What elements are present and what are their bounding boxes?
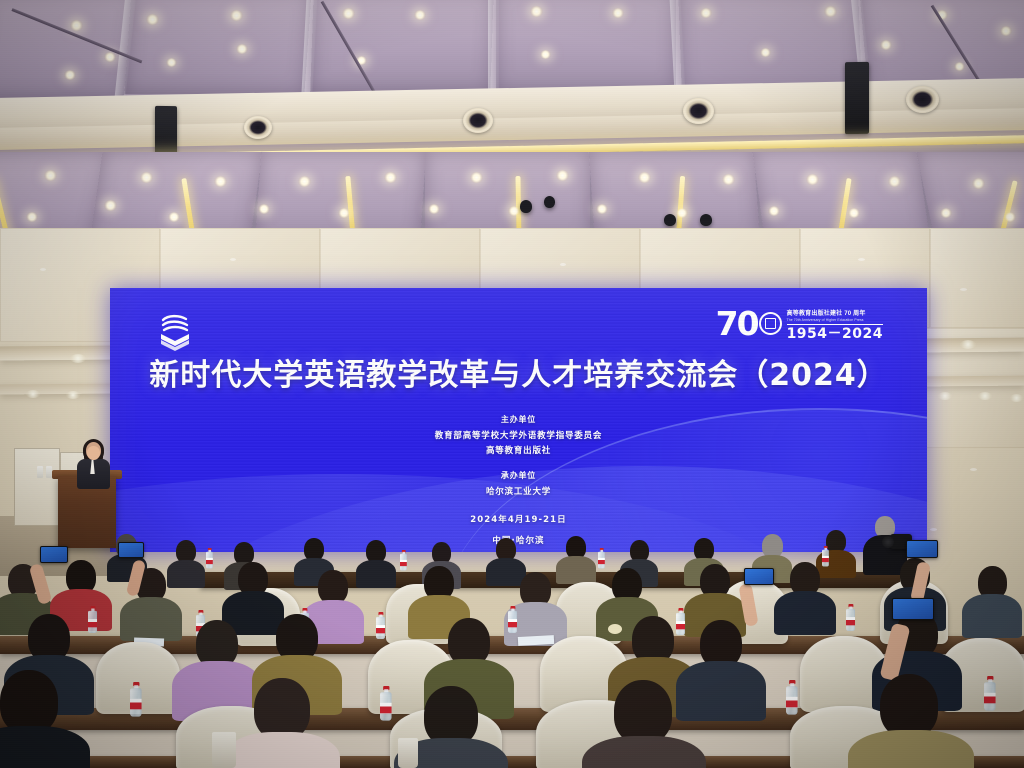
ceiling-security-camera	[664, 214, 676, 226]
wall-texture-speck	[970, 468, 977, 471]
host-name-1: 哈尔滨工业大学	[110, 485, 927, 497]
recessed-downlight	[508, 206, 520, 216]
oval-ceiling-fixture	[906, 86, 939, 113]
anniversary-cn-text: 高等教育出版社建社 70 周年	[787, 308, 883, 317]
ceiling-security-camera	[520, 200, 532, 213]
recessed-downlight	[768, 206, 780, 216]
host-label: 承办单位	[110, 470, 927, 481]
wall-texture-speck	[230, 258, 236, 261]
drink-cup	[212, 732, 236, 768]
recessed-downlight	[146, 14, 159, 25]
recessed-downlight	[760, 48, 771, 57]
recessed-downlight	[722, 174, 735, 185]
person-shoulders	[848, 730, 974, 768]
recessed-downlight	[428, 204, 440, 214]
recessed-downlight	[104, 52, 116, 62]
recessed-downlight	[26, 212, 38, 222]
recessed-downlight	[888, 176, 901, 187]
person-shoulders	[120, 597, 182, 641]
recessed-downlight	[236, 44, 248, 54]
soffit-downlight	[26, 390, 40, 398]
presenter-face	[87, 446, 100, 460]
person-head	[0, 670, 58, 734]
person-head	[614, 680, 672, 744]
recessed-downlight	[806, 174, 819, 185]
ceiling-speaker	[845, 62, 869, 134]
person-shoulders	[774, 591, 836, 635]
oval-ceiling-fixture	[683, 98, 714, 124]
recessed-downlight	[214, 176, 227, 187]
person-shoulders	[167, 560, 205, 588]
recessed-downlight	[972, 178, 985, 189]
soffit-downlight	[70, 354, 86, 363]
soffit-downlight	[978, 392, 992, 400]
person-shoulders	[224, 732, 340, 768]
recessed-downlight	[298, 176, 311, 187]
ceiling-security-camera	[544, 196, 555, 208]
recessed-downlight	[44, 170, 57, 181]
recessed-downlight	[64, 70, 76, 80]
person-shoulders	[356, 560, 396, 588]
recessed-downlight	[880, 40, 892, 50]
recessed-downlight	[384, 172, 397, 183]
recessed-downlight	[824, 6, 837, 17]
wall-stone-panel	[930, 228, 1024, 328]
person-head	[880, 674, 938, 738]
recessed-downlight	[104, 200, 117, 211]
water-glass	[37, 466, 43, 478]
conference-photo: 70 高等教育出版社建社 70 周年 The 70th Anniversary …	[0, 0, 1024, 768]
recessed-downlight	[676, 208, 688, 218]
recessed-downlight	[140, 172, 153, 183]
wall-texture-speck	[960, 288, 967, 291]
organizer-name-1: 教育部高等学校大学外语教学指导委员会	[110, 429, 927, 441]
event-title: 新时代大学英语教学改革与人才培养交流会（2024）	[110, 350, 927, 394]
person-head	[318, 570, 348, 604]
recessed-downlight	[612, 8, 624, 18]
recessed-downlight	[540, 50, 551, 59]
oval-ceiling-fixture	[244, 116, 272, 139]
anniversary-number: 70	[716, 307, 758, 340]
drink-cup	[398, 738, 418, 768]
oval-ceiling-fixture	[463, 108, 493, 133]
soffit-downlight	[938, 392, 952, 400]
smartphone-recording	[40, 546, 68, 563]
recessed-downlight	[940, 208, 952, 218]
anniversary-logo: 70 高等教育出版社建社 70 周年 The 70th Anniversary …	[716, 306, 883, 341]
wall-texture-speck	[858, 258, 865, 261]
audience-area	[0, 510, 1024, 768]
person-shoulders	[556, 556, 596, 584]
recessed-downlight	[470, 172, 483, 183]
recessed-downlight	[230, 10, 243, 21]
soffit-downlight	[960, 340, 976, 349]
recessed-downlight	[338, 208, 350, 218]
ceiling-security-camera	[700, 214, 712, 226]
person-shoulders	[676, 661, 766, 721]
recessed-downlight	[530, 6, 543, 17]
person-shoulders	[962, 594, 1022, 638]
ceiling-panel	[310, 0, 494, 92]
wall-texture-speck	[560, 263, 566, 266]
presenter-at-podium	[72, 442, 112, 488]
soffit-downlight	[1010, 394, 1023, 402]
ceiling	[0, 0, 1024, 232]
recessed-downlight	[1000, 26, 1012, 36]
ceiling-panel	[255, 152, 426, 232]
recessed-downlight	[414, 10, 426, 20]
smartphone-recording	[906, 540, 938, 558]
anniversary-en-text: The 70th Anniversary of Higher Education…	[787, 318, 883, 322]
person-head	[254, 678, 310, 740]
recessed-downlight	[638, 172, 651, 183]
person-head	[424, 686, 478, 746]
hep-seal-icon	[759, 312, 782, 335]
organizer-name-2: 高等教育出版社	[110, 444, 927, 456]
recessed-downlight	[258, 204, 270, 214]
water-glass	[46, 466, 52, 478]
organizer-label: 主办单位	[110, 414, 927, 425]
recessed-downlight	[848, 208, 860, 218]
anniversary-divider	[787, 324, 883, 325]
handout-paper	[518, 635, 554, 646]
recessed-downlight	[166, 58, 177, 67]
recessed-downlight	[556, 170, 569, 181]
ceiling-panel	[425, 152, 590, 232]
smartphone-recording	[118, 542, 144, 558]
smartphone-recording	[892, 598, 934, 620]
wall-texture-speck	[40, 268, 46, 271]
soffit-downlight	[66, 391, 80, 399]
ceiling-rib	[488, 0, 499, 94]
recessed-downlight	[954, 62, 965, 71]
recessed-downlight	[342, 8, 355, 19]
person-shoulders	[582, 736, 706, 768]
recessed-downlight	[1004, 212, 1016, 222]
hep-publisher-logo-icon	[155, 310, 195, 352]
recessed-downlight	[70, 20, 83, 31]
person-shoulders	[0, 726, 90, 768]
anniversary-years: 1954－2024	[787, 327, 883, 341]
recessed-downlight	[700, 8, 712, 18]
smartphone-recording	[744, 568, 774, 585]
ceiling-panel	[496, 0, 676, 92]
recessed-downlight	[596, 204, 608, 214]
recessed-downlight	[168, 212, 180, 222]
hair-bow-accessory	[608, 624, 622, 634]
